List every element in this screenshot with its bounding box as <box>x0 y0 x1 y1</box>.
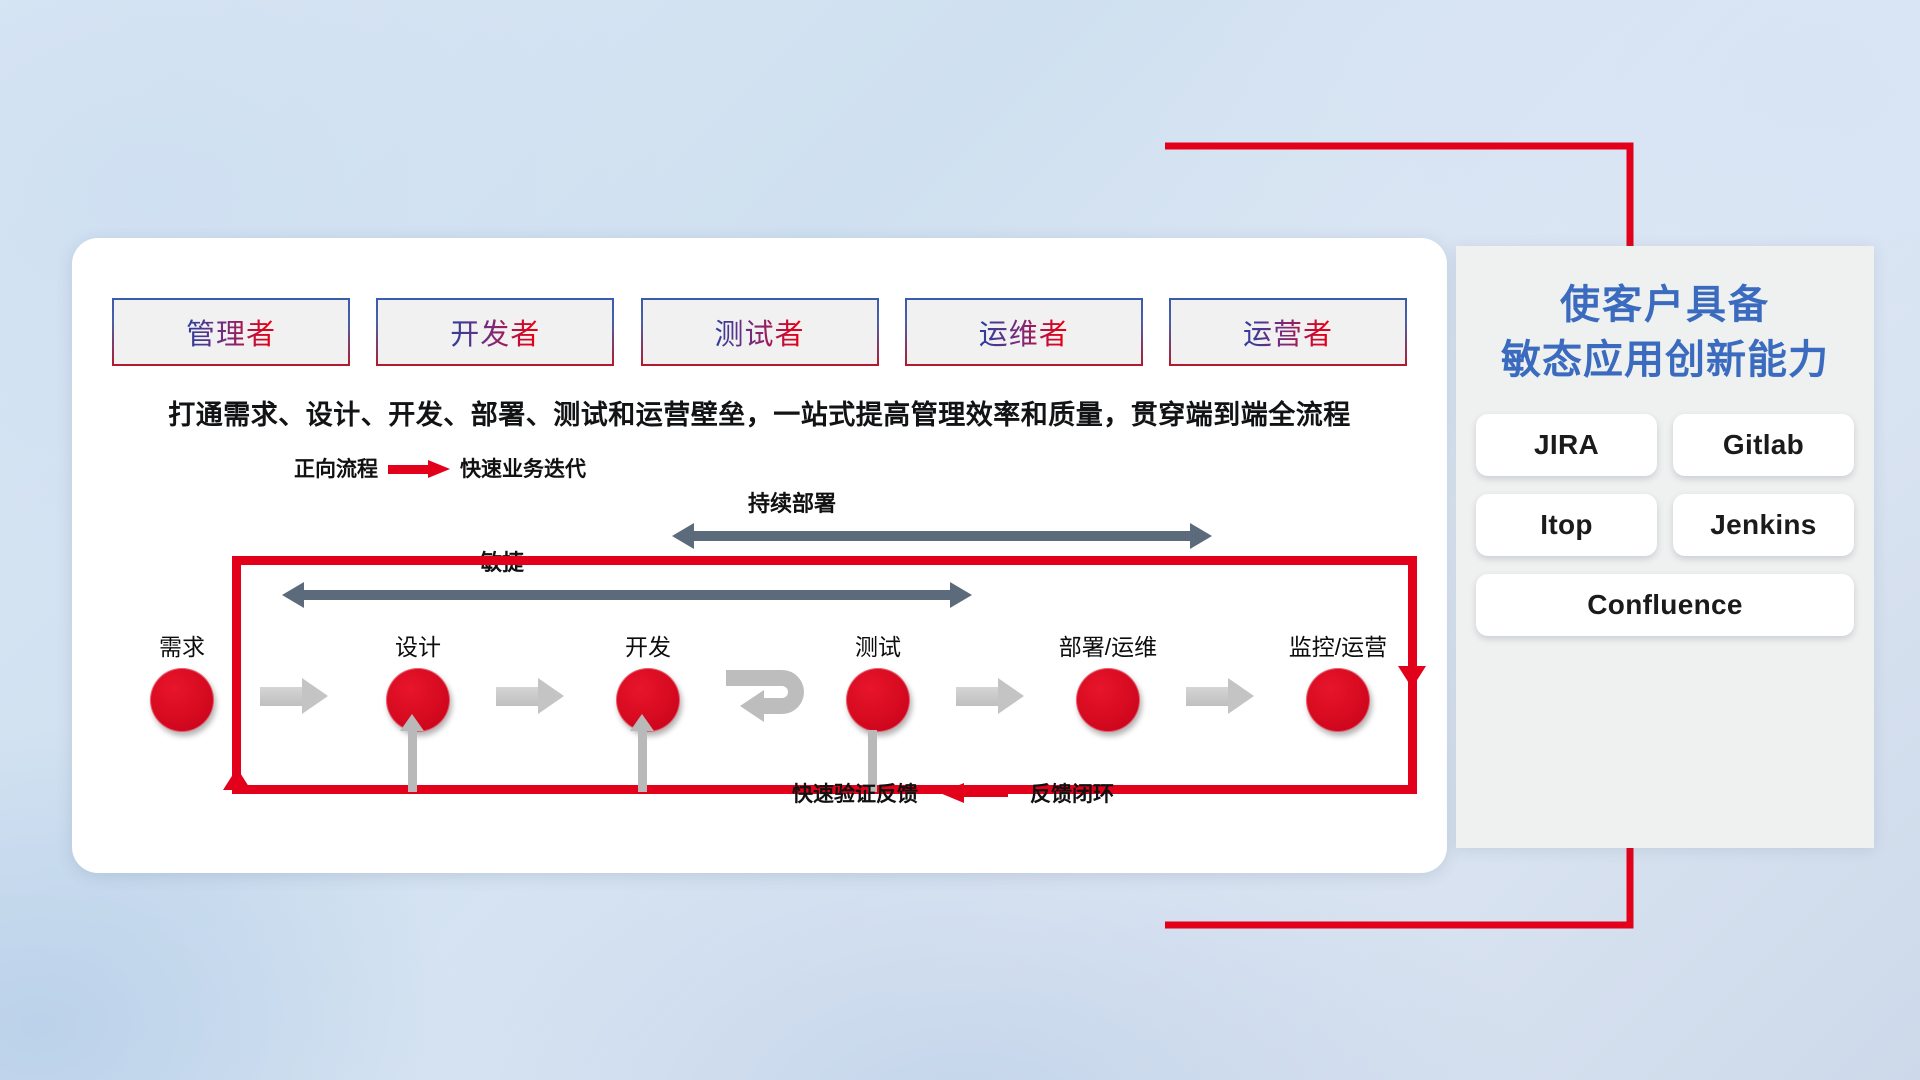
legend-forward-from-label: 正向流程 <box>294 453 378 483</box>
stage-pipeline: 需求 设计 开发 <box>112 628 1407 758</box>
stage-dot-icon <box>150 668 214 732</box>
stage-deploy-ops[interactable]: 部署/运维 <box>1042 628 1174 732</box>
double-arrow-continuous-deployment-icon <box>672 523 1212 549</box>
connector-head <box>998 678 1024 714</box>
connector-head <box>1228 678 1254 714</box>
arrow-head-right <box>1190 523 1212 549</box>
slide-canvas: 管理者 开发者 测试者 运维者 运营者 打通需求、设计、开发、部署、测试和运营壁… <box>0 0 1920 1080</box>
capabilities-side-panel: 使客户具备 敏态应用创新能力 JIRA Gitlab Itop Jenkins … <box>1456 246 1874 848</box>
legend-feedback-from-label: 反馈闭环 <box>1030 778 1114 808</box>
role-box-tester[interactable]: 测试者 <box>641 298 879 366</box>
legend-forward-to-label: 快速业务迭代 <box>460 453 586 483</box>
role-box-manager[interactable]: 管理者 <box>112 298 350 366</box>
stage-label: 开发 <box>582 628 714 662</box>
loop-back-arrow-icon <box>724 664 816 726</box>
stage-label: 需求 <box>116 628 248 662</box>
connector-head <box>538 678 564 714</box>
role-boxes-row: 管理者 开发者 测试者 运维者 运营者 <box>112 298 1407 366</box>
stage-dot-icon <box>1306 668 1370 732</box>
role-label: 管理者 <box>186 311 276 353</box>
connector-arrow-3-icon <box>956 678 1024 714</box>
stage-testing[interactable]: 测试 <box>812 628 944 732</box>
side-panel-title: 使客户具备 敏态应用创新能力 <box>1456 278 1874 388</box>
role-label: 测试者 <box>714 311 804 353</box>
connector-head <box>302 678 328 714</box>
side-panel-title-line1: 使客户具备 <box>1456 278 1874 333</box>
arrow-head-up-icon <box>223 768 251 790</box>
role-label: 开发者 <box>450 311 540 353</box>
stage-dot-icon <box>846 668 910 732</box>
arrow-right-red-icon <box>388 461 450 475</box>
tool-chip-itop[interactable]: Itop <box>1476 494 1657 556</box>
side-panel-title-line2: 敏态应用创新能力 <box>1456 333 1874 388</box>
stage-requirement[interactable]: 需求 <box>116 628 248 732</box>
legend-feedback-to-label: 快速验证反馈 <box>792 778 918 808</box>
stub-design-icon <box>408 730 417 792</box>
connector-arrow-4-icon <box>1186 678 1254 714</box>
arrow-shaft <box>692 531 1192 541</box>
connector-body <box>1186 687 1230 706</box>
stub-development-icon <box>638 730 647 792</box>
tagline-text: 打通需求、设计、开发、部署、测试和运营壁垒，一站式提高管理效率和质量，贯穿端到端… <box>72 393 1447 432</box>
role-box-ops[interactable]: 运维者 <box>905 298 1143 366</box>
stub-head <box>630 714 654 731</box>
connector-body <box>956 687 1000 706</box>
stage-label: 部署/运维 <box>1042 628 1174 662</box>
tool-chip-jira[interactable]: JIRA <box>1476 414 1657 476</box>
connector-arrow-1-icon <box>260 678 328 714</box>
stage-monitor-operations[interactable]: 监控/运营 <box>1272 628 1404 732</box>
stage-label: 设计 <box>352 628 484 662</box>
stage-label: 监控/运营 <box>1272 628 1404 662</box>
legend-feedback-loop: 快速验证反馈 反馈闭环 <box>792 778 1114 808</box>
tool-chip-gitlab[interactable]: Gitlab <box>1673 414 1854 476</box>
loop-top-edge <box>232 556 1417 565</box>
connector-arrow-2-icon <box>496 678 564 714</box>
role-label: 运维者 <box>979 311 1069 353</box>
main-content-card: 管理者 开发者 测试者 运维者 运营者 打通需求、设计、开发、部署、测试和运营壁… <box>72 238 1447 873</box>
tool-chip-jenkins[interactable]: Jenkins <box>1673 494 1854 556</box>
role-label: 运营者 <box>1243 311 1333 353</box>
role-box-developer[interactable]: 开发者 <box>376 298 614 366</box>
connector-body <box>496 687 540 706</box>
legend-forward-flow: 正向流程 快速业务迭代 <box>294 453 586 483</box>
stub-head <box>400 714 424 731</box>
connector-body <box>260 687 304 706</box>
stage-label: 测试 <box>812 628 944 662</box>
tool-chip-confluence[interactable]: Confluence <box>1476 574 1854 636</box>
stage-dot-icon <box>1076 668 1140 732</box>
band-label-continuous-deployment: 持续部署 <box>692 486 892 518</box>
tool-chip-grid: JIRA Gitlab Itop Jenkins Confluence <box>1476 414 1854 636</box>
arrow-head-left <box>672 523 694 549</box>
role-box-operations[interactable]: 运营者 <box>1169 298 1407 366</box>
arrow-left-red-icon <box>940 784 1008 802</box>
